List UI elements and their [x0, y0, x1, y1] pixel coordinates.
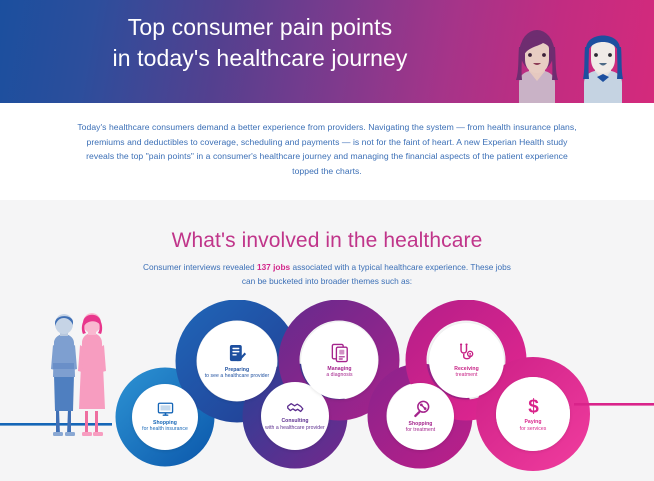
- node-title: Receiving: [454, 366, 479, 372]
- page-title: Top consumer pain points in today's heal…: [0, 12, 520, 74]
- section-subtext: Consumer interviews revealed 137 jobs as…: [137, 260, 517, 288]
- magnifier-pill-icon: [412, 400, 430, 418]
- subtext-before: Consumer interviews revealed: [143, 262, 257, 272]
- node-title: Shopping: [409, 421, 433, 427]
- intro-paragraph: Today's healthcare consumers demand a be…: [77, 120, 577, 178]
- header-people-illustration: [505, 25, 650, 103]
- node-title: Managing: [327, 366, 351, 372]
- page-title-line2: in today's healthcare journey: [0, 43, 520, 74]
- monitor-icon: [157, 402, 174, 417]
- section-heading: What's involved in the healthcare: [0, 228, 654, 254]
- node-receiving-treatment[interactable]: Receiving treatment: [429, 323, 504, 398]
- clipboard-check-icon: [228, 343, 247, 364]
- node-subtitle: with a healthcare provider: [265, 425, 325, 431]
- header-woman-figure: [516, 30, 558, 103]
- header-banner: Top consumer pain points in today's heal…: [0, 0, 654, 103]
- stethoscope-icon: [458, 343, 475, 363]
- node-label: Managing a diagnosis: [323, 366, 355, 379]
- svg-text:$: $: [528, 397, 539, 417]
- dollar-icon: $: [526, 396, 541, 416]
- node-subtitle: for health insurance: [142, 426, 188, 432]
- couple-woman-figure: [78, 313, 106, 436]
- infographic-page: Top consumer pain points in today's heal…: [0, 0, 654, 481]
- node-label: Preparing to see a healthcare provider: [202, 367, 273, 380]
- node-subtitle: to see a healthcare provider: [205, 373, 270, 379]
- node-title: Preparing: [225, 367, 249, 373]
- node-label: Shopping for health insurance: [139, 420, 191, 433]
- ground-line-right: [574, 403, 654, 406]
- node-label: Shopping for treatment: [403, 421, 439, 434]
- node-subtitle: a diagnosis: [326, 372, 352, 378]
- header-man-figure: [583, 36, 623, 104]
- node-label: Paying for services: [517, 419, 550, 432]
- node-label: Receiving treatment: [451, 366, 482, 379]
- handshake-icon: [286, 401, 305, 415]
- documents-icon: [331, 343, 349, 363]
- node-title: Shopping: [153, 420, 177, 426]
- page-title-line1: Top consumer pain points: [128, 14, 393, 40]
- node-label: Consulting with a healthcare provider: [262, 418, 328, 431]
- node-preparing-to-see-provider[interactable]: Preparing to see a healthcare provider: [197, 321, 277, 401]
- node-shopping-health-insurance[interactable]: Shopping for health insurance: [132, 384, 198, 450]
- node-shopping-for-treatment[interactable]: Shopping for treatment: [387, 383, 454, 450]
- standing-couple-illustration: [40, 313, 114, 438]
- jobs-count-highlight: 137 jobs: [257, 262, 290, 272]
- couple-man-figure: [51, 314, 77, 436]
- node-subtitle: for services: [520, 426, 547, 432]
- node-managing-a-diagnosis[interactable]: Managing a diagnosis: [301, 322, 378, 399]
- node-title: Consulting: [281, 418, 308, 424]
- node-paying-for-services[interactable]: $ Paying for services: [496, 377, 570, 451]
- node-subtitle: for treatment: [406, 427, 436, 433]
- node-subtitle: treatment: [454, 372, 479, 378]
- node-title: Paying: [524, 419, 541, 425]
